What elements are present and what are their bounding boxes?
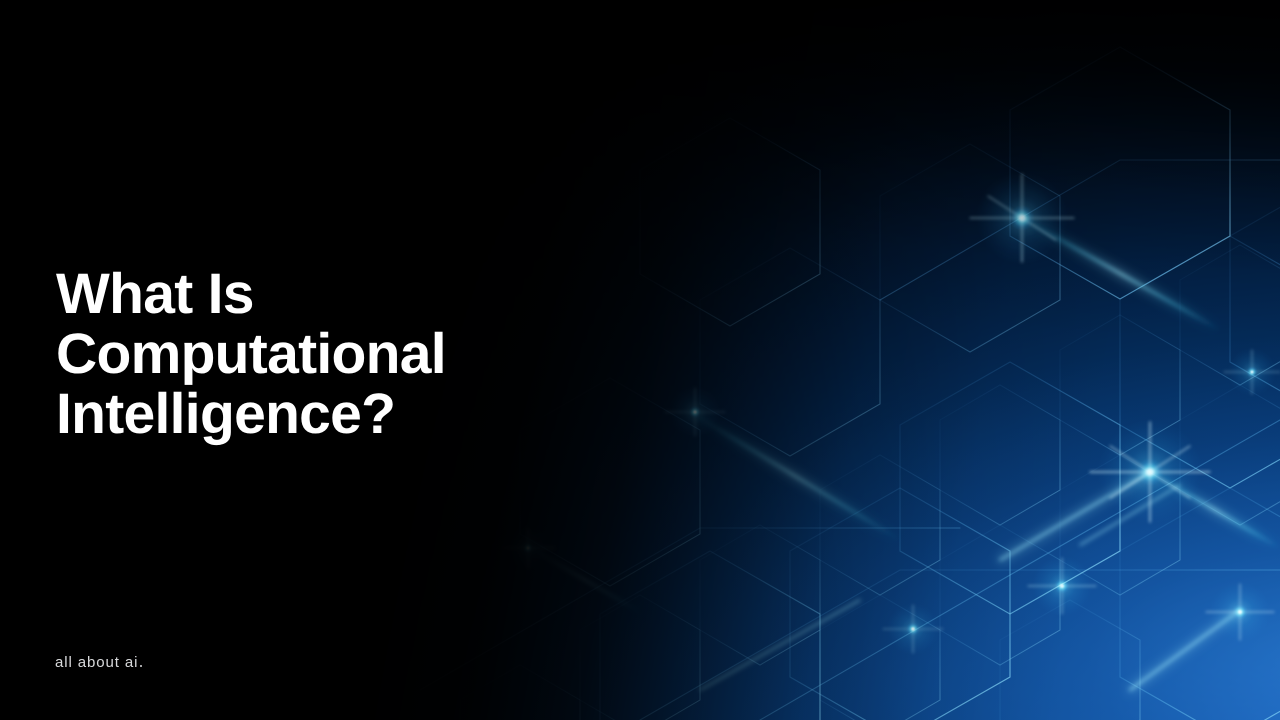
page-title: What Is Computational Intelligence? — [56, 264, 446, 444]
brand-logo: all about ai — [55, 655, 142, 670]
title-slide: What Is Computational Intelligence? all … — [0, 0, 1280, 720]
slide-content: What Is Computational Intelligence? all … — [0, 0, 1280, 720]
brand-logo-text: all about ai — [55, 655, 138, 670]
brand-logo-dot — [140, 665, 142, 667]
